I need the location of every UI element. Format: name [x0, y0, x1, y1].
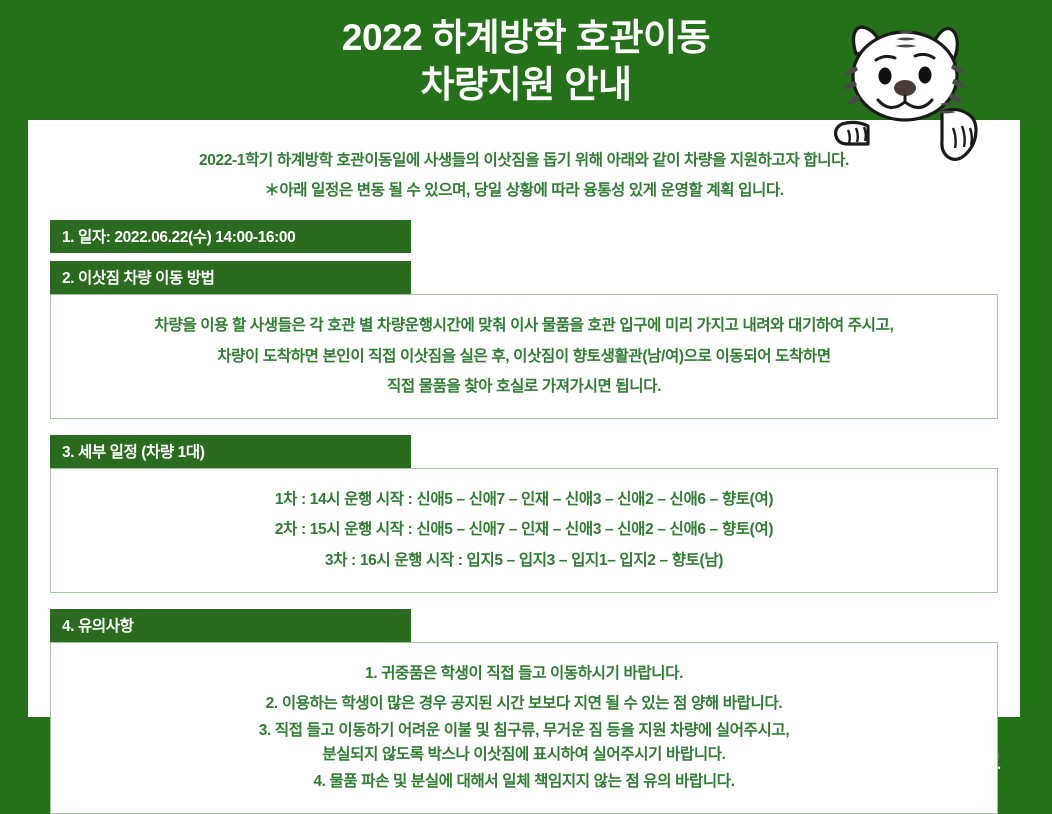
poster-title-line-1: 2022 하계방학 호관이동 — [0, 14, 1052, 61]
note-item-3-line-1: 3. 직접 들고 이동하기 어려운 이불 및 침구류, 무거운 짐 등을 지원 … — [65, 719, 983, 743]
schedule-run-3: 3차 : 16시 운행 시작 : 입지5 – 입지3 – 입지1– 입지2 – … — [65, 546, 983, 576]
intro-text: 2022-1학기 하계방학 호관이동일에 사생들의 이삿짐을 돕기 위해 아래와… — [28, 120, 1020, 206]
section-move-method-header: 2. 이삿짐 차량 이동 방법 — [50, 261, 411, 294]
move-method-line-1: 차량을 이용 할 사생들은 각 호관 별 차량운행시간에 맞춰 이사 물품을 호… — [65, 311, 983, 341]
note-item-3-line-2: 분실되지 않도록 박스나 이삿짐에 표시하여 실어주시기 바랍니다. — [65, 743, 983, 767]
note-item-4: 4. 물품 파손 및 분실에 대해서 일체 책임지지 않는 점 유의 바랍니다. — [65, 767, 983, 797]
section-schedule-header: 3. 세부 일정 (차량 1대) — [50, 435, 411, 468]
section-move-method-body: 차량을 이용 할 사생들은 각 호관 별 차량운행시간에 맞춰 이사 물품을 호… — [50, 294, 998, 419]
section-schedule-body: 1차 : 14시 운행 시작 : 신애5 – 신애7 – 인재 – 신애3 – … — [50, 468, 998, 593]
schedule-run-2: 2차 : 15시 운행 시작 : 신애5 – 신애7 – 인재 – 신애3 – … — [65, 515, 983, 545]
intro-line-1: 2022-1학기 하계방학 호관이동일에 사생들의 이삿짐을 돕기 위해 아래와… — [28, 146, 1020, 176]
section-move-method: 2. 이삿짐 차량 이동 방법 차량을 이용 할 사생들은 각 호관 별 차량운… — [50, 261, 998, 419]
content-panel: 2022-1학기 하계방학 호관이동일에 사생들의 이삿짐을 돕기 위해 아래와… — [28, 120, 1020, 717]
section-notes-header: 4. 유의사항 — [50, 609, 411, 642]
move-method-line-2: 차량이 도착하면 본인이 직접 이삿짐을 실은 후, 이삿짐이 향토생활관(남/… — [65, 342, 983, 372]
poster-title: 2022 하계방학 호관이동 차량지원 안내 — [0, 14, 1052, 109]
intro-line-2: ＊아래 일정은 변동 될 수 있으며, 당일 상황에 따라 융통성 있게 운영할… — [28, 176, 1020, 206]
section-date-header: 1. 일자: 2022.06.22(수) 14:00-16:00 — [50, 220, 411, 253]
section-date: 1. 일자: 2022.06.22(수) 14:00-16:00 — [50, 220, 998, 253]
section-notes: 4. 유의사항 1. 귀중품은 학생이 직접 들고 이동하시기 바랍니다. 2.… — [50, 609, 998, 814]
move-method-line-3: 직접 물품을 찾아 호실로 가져가시면 됩니다. — [65, 372, 983, 402]
note-item-1: 1. 귀중품은 학생이 직접 들고 이동하시기 바랍니다. — [65, 659, 983, 689]
section-notes-body: 1. 귀중품은 학생이 직접 들고 이동하시기 바랍니다. 2. 이용하는 학생… — [50, 642, 998, 814]
note-item-2: 2. 이용하는 학생이 많은 경우 공지된 시간 보보다 지연 될 수 있는 점… — [65, 689, 983, 719]
poster-title-line-2: 차량지원 안내 — [0, 61, 1052, 108]
poster-header: 2022 하계방학 호관이동 차량지원 안내 — [0, 0, 1052, 120]
section-schedule: 3. 세부 일정 (차량 1대) 1차 : 14시 운행 시작 : 신애5 – … — [50, 435, 998, 593]
schedule-run-1: 1차 : 14시 운행 시작 : 신애5 – 신애7 – 인재 – 신애3 – … — [65, 485, 983, 515]
